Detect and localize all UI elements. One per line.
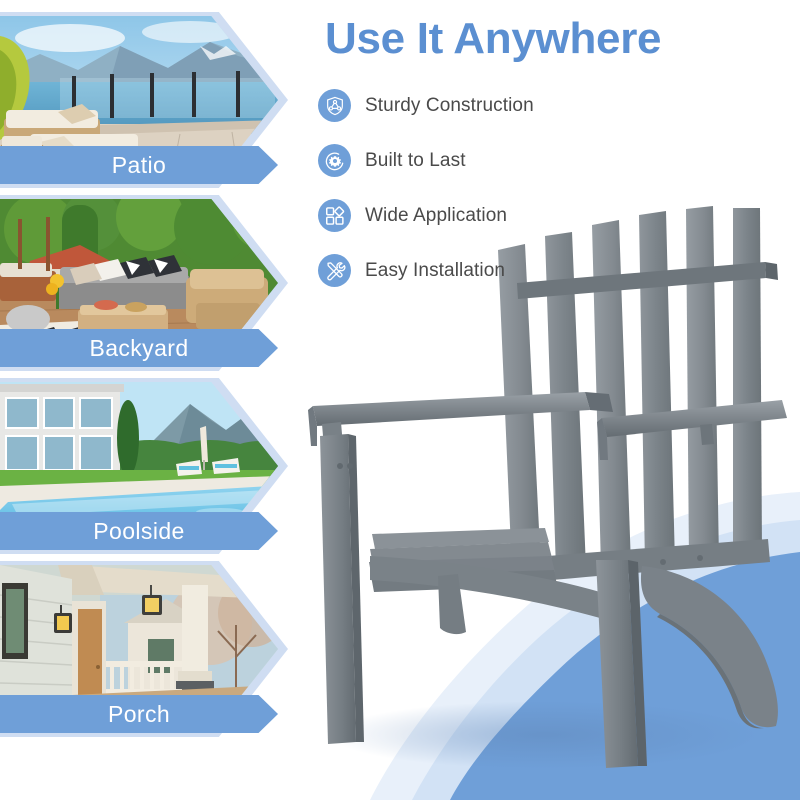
feature-list: Sturdy Construction Built to Last bbox=[318, 78, 534, 298]
gear-icon bbox=[318, 144, 351, 177]
blocks-icon bbox=[318, 199, 351, 232]
feature-item-wide-application: Wide Application bbox=[318, 188, 534, 243]
page-title: Use It Anywhere bbox=[325, 14, 661, 64]
tools-icon bbox=[318, 254, 351, 287]
scene-card-patio[interactable]: Patio bbox=[0, 12, 288, 188]
scene-card-label: Porch bbox=[0, 695, 278, 733]
scene-card-poolside[interactable]: Poolside bbox=[0, 378, 288, 554]
scene-card-label: Patio bbox=[0, 146, 278, 184]
shield-icon bbox=[318, 89, 351, 122]
feature-label: Easy Installation bbox=[365, 260, 505, 282]
feature-item-built-to-last: Built to Last bbox=[318, 133, 534, 188]
feature-label: Wide Application bbox=[365, 205, 507, 227]
feature-label: Built to Last bbox=[365, 150, 466, 172]
feature-item-sturdy-construction: Sturdy Construction bbox=[318, 78, 534, 133]
feature-item-easy-installation: Easy Installation bbox=[318, 243, 534, 298]
scene-card-porch[interactable]: Porch bbox=[0, 561, 288, 737]
feature-label: Sturdy Construction bbox=[365, 95, 534, 117]
scene-card-label: Poolside bbox=[0, 512, 278, 550]
right-panel: Use It Anywhere Sturdy Construction bbox=[300, 0, 800, 800]
marketing-banner: Patio bbox=[0, 0, 800, 800]
scene-card-label: Backyard bbox=[0, 329, 278, 367]
scene-card-backyard[interactable]: Backyard bbox=[0, 195, 288, 371]
scene-card-list: Patio bbox=[0, 12, 300, 744]
